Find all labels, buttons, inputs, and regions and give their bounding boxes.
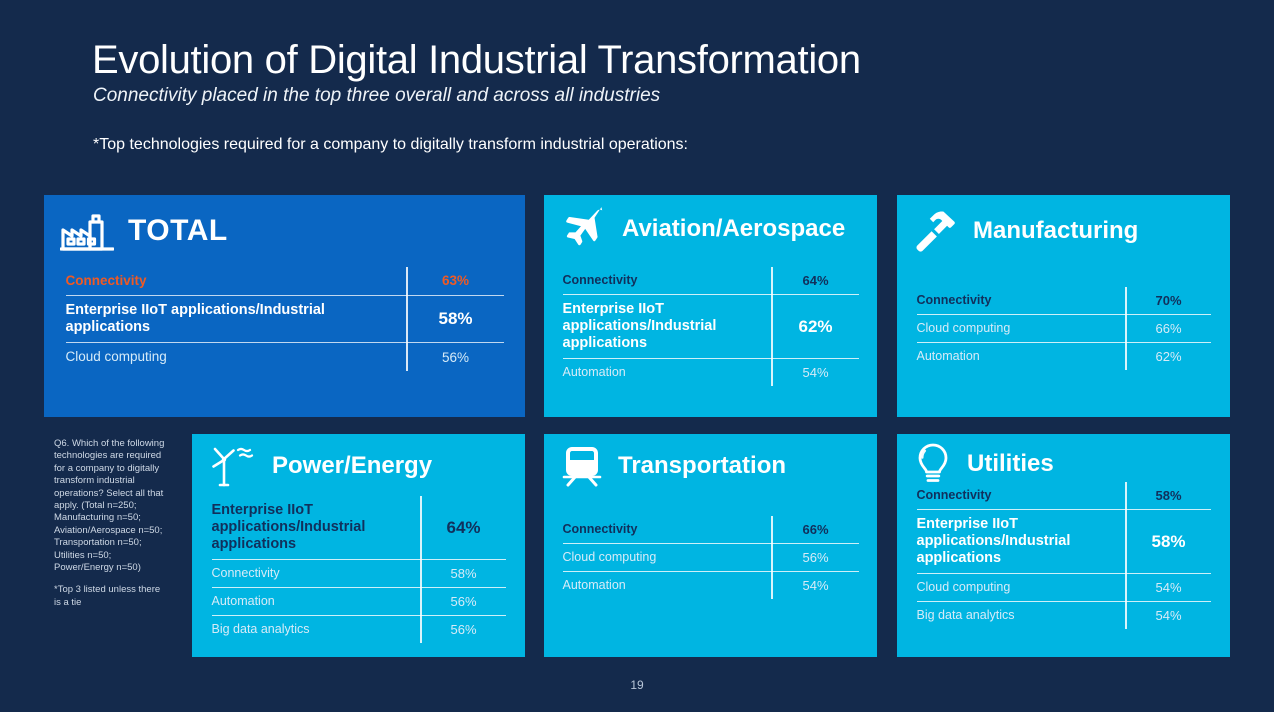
tech-value: 66%: [773, 516, 859, 543]
tech-label: Automation: [212, 588, 422, 615]
page-number: 19: [0, 678, 1274, 692]
footnote-spacer: [54, 574, 166, 584]
footnote: Q6. Which of the following technologies …: [54, 438, 166, 609]
factory-icon: [60, 209, 114, 253]
table-row[interactable]: Connectivity 58%: [212, 560, 506, 588]
tech-value: 64%: [773, 267, 859, 294]
table-row[interactable]: Big data analytics 56%: [212, 616, 506, 643]
table-vertical-divider: [420, 496, 422, 643]
table-row[interactable]: Connectivity 64%: [563, 267, 859, 295]
table-row[interactable]: Cloud computing 66%: [917, 315, 1211, 343]
panel-header-total: TOTAL: [44, 195, 525, 253]
panel-title-total: TOTAL: [128, 214, 228, 248]
table-row[interactable]: Connectivity 63%: [66, 267, 504, 296]
tech-table-utilities: Connectivity 58% Enterprise IIoT applica…: [917, 482, 1211, 629]
table-row[interactable]: Enterprise IIoT applications/Industrial …: [212, 496, 506, 560]
tech-value: 54%: [1127, 574, 1211, 601]
tech-label: Connectivity: [563, 267, 773, 294]
airplane-icon: [560, 207, 608, 251]
tech-value: 58%: [408, 303, 504, 335]
tech-value: 54%: [773, 572, 859, 599]
tech-label: Enterprise IIoT applications/Industrial …: [66, 296, 408, 342]
tech-table-power: Enterprise IIoT applications/Industrial …: [212, 496, 506, 643]
lightbulb-icon: [913, 442, 953, 486]
panel-manufacturing: Manufacturing Connectivity 70% Cloud com…: [897, 195, 1230, 417]
hammer-icon: [913, 209, 959, 253]
page-title: Evolution of Digital Industrial Transfor…: [92, 38, 861, 83]
tech-value: 70%: [1127, 287, 1211, 314]
tech-value: 58%: [422, 560, 506, 587]
tech-label: Cloud computing: [917, 574, 1127, 601]
train-icon: [560, 444, 604, 488]
panel-utilities: Utilities Connectivity 58% Enterprise II…: [897, 434, 1230, 657]
footnote-disclaimer: *Top 3 listed unless there is a tie: [54, 584, 160, 607]
table-row[interactable]: Connectivity 58%: [917, 482, 1211, 510]
panel-transportation: Transportation Connectivity 66% Cloud co…: [544, 434, 877, 657]
panel-total: TOTAL Connectivity 63% Enterprise IIoT a…: [44, 195, 525, 417]
tech-label: Cloud computing: [66, 343, 408, 371]
tech-label: Automation: [563, 359, 773, 386]
tech-label: Connectivity: [917, 287, 1127, 314]
tech-value: 56%: [408, 344, 504, 371]
tech-value: 62%: [773, 311, 859, 343]
tech-label: Automation: [563, 572, 773, 599]
panel-header-utilities: Utilities: [897, 434, 1230, 486]
table-row[interactable]: Automation 56%: [212, 588, 506, 616]
tech-value: 56%: [422, 616, 506, 643]
panel-header-aviation: Aviation/Aerospace: [544, 195, 877, 251]
tech-value: 64%: [422, 512, 506, 544]
table-vertical-divider: [1125, 287, 1127, 370]
panel-title-utilities: Utilities: [967, 450, 1054, 478]
panel-power-energy: Power/Energy Enterprise IIoT application…: [192, 434, 525, 657]
table-vertical-divider: [1125, 482, 1127, 629]
table-vertical-divider: [771, 516, 773, 599]
panel-title-aviation: Aviation/Aerospace: [622, 215, 845, 243]
table-row[interactable]: Automation 54%: [563, 572, 859, 599]
tech-table-transportation: Connectivity 66% Cloud computing 56% Aut…: [563, 516, 859, 599]
tech-value: 54%: [773, 359, 859, 386]
panel-title-manufacturing: Manufacturing: [973, 217, 1138, 245]
table-row[interactable]: Enterprise IIoT applications/Industrial …: [563, 295, 859, 359]
page-subtitle: Connectivity placed in the top three ove…: [93, 85, 660, 107]
tech-value: 54%: [1127, 602, 1211, 629]
panel-title-transportation: Transportation: [618, 452, 786, 480]
table-row[interactable]: Cloud computing 56%: [563, 544, 859, 572]
tech-label: Connectivity: [563, 516, 773, 543]
tech-table-aviation: Connectivity 64% Enterprise IIoT applica…: [563, 267, 859, 386]
page-note: *Top technologies required for a company…: [93, 136, 688, 154]
table-row[interactable]: Connectivity 70%: [917, 287, 1211, 315]
table-row[interactable]: Cloud computing 56%: [66, 343, 504, 371]
tech-label: Enterprise IIoT applications/Industrial …: [917, 510, 1127, 573]
tech-label: Connectivity: [212, 560, 422, 587]
tech-value: 62%: [1127, 343, 1211, 370]
panel-header-power: Power/Energy: [192, 434, 525, 488]
table-row[interactable]: Automation 54%: [563, 359, 859, 386]
table-row[interactable]: Enterprise IIoT applications/Industrial …: [917, 510, 1211, 574]
table-row[interactable]: Enterprise IIoT applications/Industrial …: [66, 296, 504, 343]
tech-label: Big data analytics: [917, 602, 1127, 629]
panel-aviation-aerospace: Aviation/Aerospace Connectivity 64% Ente…: [544, 195, 877, 417]
tech-label: Cloud computing: [563, 544, 773, 571]
tech-label: Big data analytics: [212, 616, 422, 643]
tech-value: 56%: [773, 544, 859, 571]
table-row[interactable]: Cloud computing 54%: [917, 574, 1211, 602]
tech-value: 56%: [422, 588, 506, 615]
wind-turbine-icon: [208, 444, 258, 488]
tech-label: Connectivity: [917, 482, 1127, 509]
tech-table-total: Connectivity 63% Enterprise IIoT applica…: [66, 267, 504, 371]
table-vertical-divider: [406, 267, 408, 371]
tech-value: 58%: [1127, 526, 1211, 558]
table-row[interactable]: Big data analytics 54%: [917, 602, 1211, 629]
panel-header-manufacturing: Manufacturing: [897, 195, 1230, 253]
table-row[interactable]: Automation 62%: [917, 343, 1211, 370]
tech-label: Enterprise IIoT applications/Industrial …: [212, 496, 422, 559]
tech-value: 63%: [408, 267, 504, 294]
tech-label: Enterprise IIoT applications/Industrial …: [563, 295, 773, 358]
tech-label: Connectivity: [66, 267, 408, 295]
tech-table-manufacturing: Connectivity 70% Cloud computing 66% Aut…: [917, 287, 1211, 370]
table-row[interactable]: Connectivity 66%: [563, 516, 859, 544]
tech-value: 66%: [1127, 315, 1211, 342]
panel-title-power: Power/Energy: [272, 452, 432, 480]
table-vertical-divider: [771, 267, 773, 386]
tech-label: Cloud computing: [917, 315, 1127, 342]
panel-header-transportation: Transportation: [544, 434, 877, 488]
tech-label: Automation: [917, 343, 1127, 370]
tech-value: 58%: [1127, 482, 1211, 509]
